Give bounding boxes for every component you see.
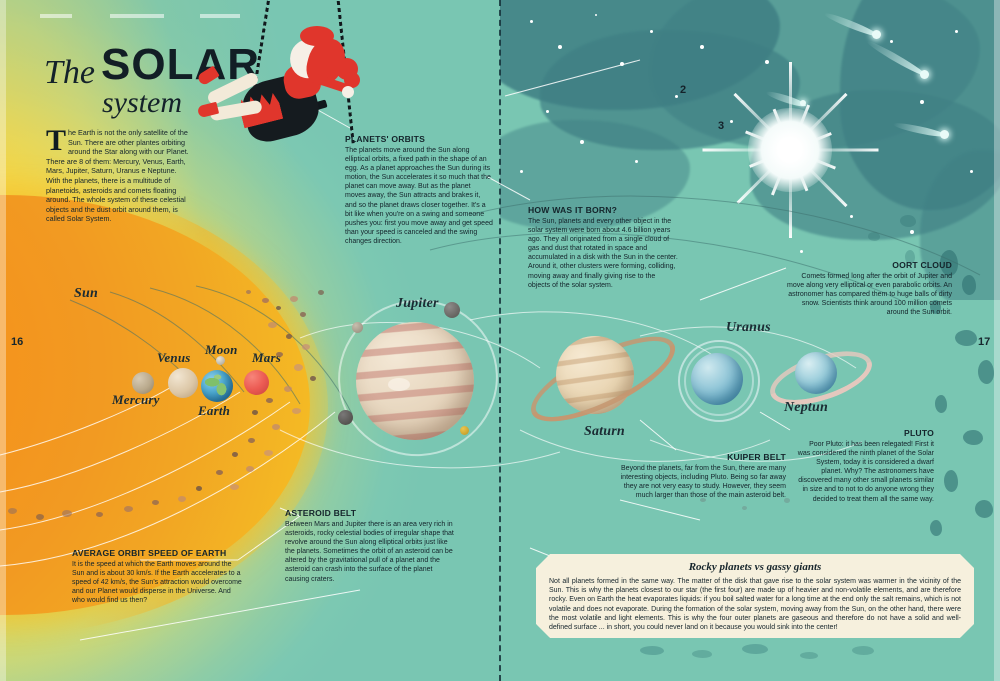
note-pluto: PLUTO Poor Pluto: it has been relegated!… bbox=[796, 428, 934, 504]
jupiter-moon bbox=[338, 410, 353, 425]
infographic-page: TheSOLAR system The Earth is not the onl… bbox=[0, 0, 1000, 681]
title-word-the: The bbox=[44, 54, 95, 92]
decor-streak bbox=[40, 14, 72, 18]
note-body: Poor Pluto: it has been relegated! First… bbox=[796, 440, 934, 504]
jupiter-moon bbox=[352, 322, 363, 333]
intro-paragraph: The Earth is not the only satellite of t… bbox=[46, 128, 192, 224]
note-heading: ASTEROID BELT bbox=[285, 508, 457, 518]
planet-uranus bbox=[691, 353, 743, 405]
intro-text: he Earth is not the only satellite of th… bbox=[46, 128, 189, 223]
planet-earth bbox=[201, 370, 233, 402]
feature-heading: Rocky planets vs gassy giants bbox=[549, 561, 961, 573]
note-body: It is the speed at which the Earth moves… bbox=[72, 560, 242, 605]
label-neptune: Neptun bbox=[784, 400, 828, 416]
feature-body: Not all planets formed in the same way. … bbox=[549, 577, 961, 632]
girl-on-swing-illustration bbox=[196, 0, 364, 160]
page-number-left: 16 bbox=[11, 336, 23, 348]
note-how-was-it-born: HOW WAS IT BORN? The Sun, planets and ev… bbox=[528, 205, 678, 290]
label-moon: Moon bbox=[205, 342, 238, 358]
note-heading: KUIPER BELT bbox=[618, 452, 786, 462]
girl-hand bbox=[342, 86, 354, 98]
note-average-orbit-speed: AVERAGE ORBIT SPEED OF EARTH It is the s… bbox=[72, 548, 242, 605]
decor-streak bbox=[110, 14, 164, 18]
label-earth: Earth bbox=[198, 403, 230, 419]
note-heading: PLANETS' ORBITS bbox=[345, 134, 493, 144]
note-asteroid-belt: ASTEROID BELT Between Mars and Jupiter t… bbox=[285, 508, 457, 584]
girl-shoe bbox=[196, 66, 219, 87]
marker-3: 3 bbox=[718, 120, 724, 132]
intro-dropcap: T bbox=[46, 128, 68, 153]
note-heading: PLUTO bbox=[796, 428, 934, 438]
note-body: The planets move around the Sun along el… bbox=[345, 146, 493, 246]
planet-mars bbox=[244, 370, 269, 395]
note-heading: HOW WAS IT BORN? bbox=[528, 205, 678, 215]
planet-mercury bbox=[132, 372, 154, 394]
note-body: Between Mars and Jupiter there is an are… bbox=[285, 520, 457, 584]
label-jupiter: Jupiter bbox=[396, 296, 439, 312]
jupiter-moon bbox=[444, 302, 460, 318]
label-uranus: Uranus bbox=[726, 320, 771, 336]
girl-hair-bun bbox=[300, 26, 334, 46]
note-kuiper-belt: KUIPER BELT Beyond the planets, far from… bbox=[618, 452, 786, 500]
page-number-right: 17 bbox=[978, 336, 990, 348]
marker-2: 2 bbox=[680, 84, 686, 96]
note-body: The Sun, planets and every other object … bbox=[528, 217, 678, 290]
label-saturn: Saturn bbox=[584, 424, 625, 440]
note-oort-cloud: OORT CLOUD Comets formed long after the … bbox=[786, 260, 952, 317]
label-venus: Venus bbox=[157, 350, 191, 366]
label-mercury: Mercury bbox=[112, 392, 160, 408]
note-body: Beyond the planets, far from the Sun, th… bbox=[618, 464, 786, 500]
label-sun: Sun bbox=[74, 286, 98, 302]
note-heading: AVERAGE ORBIT SPEED OF EARTH bbox=[72, 548, 242, 558]
planet-venus bbox=[168, 368, 198, 398]
note-heading: OORT CLOUD bbox=[786, 260, 952, 270]
feature-panel-rocky-vs-gassy: Rocky planets vs gassy giants Not all pl… bbox=[536, 554, 974, 638]
jupiter-moon bbox=[460, 426, 469, 435]
planet-jupiter bbox=[356, 322, 474, 440]
note-planets-orbits: PLANETS' ORBITS The planets move around … bbox=[345, 134, 493, 246]
note-body: Comets formed long after the orbit of Ju… bbox=[786, 272, 952, 317]
